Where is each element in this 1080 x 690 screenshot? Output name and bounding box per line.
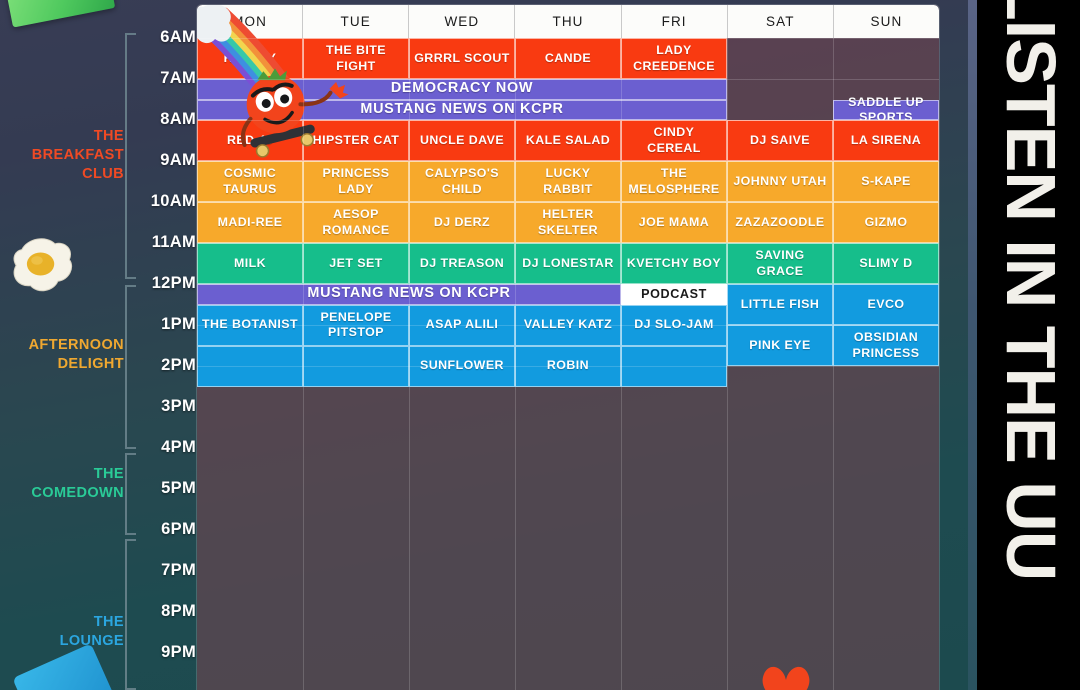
time-label-12pm: 12PM <box>134 274 196 293</box>
time-label-5pm: 5PM <box>134 479 196 498</box>
grid-vline <box>621 38 622 690</box>
slot-tue-12pm[interactable]: PRINCESS LADY <box>303 161 409 202</box>
slot-saddle-up-sports[interactable]: SADDLE UP SPORTS <box>833 100 939 121</box>
time-label-10am: 10AM <box>134 192 196 211</box>
grid-hline <box>197 161 939 162</box>
slot-mustang-news-am[interactable]: MUSTANG NEWS ON KCPR <box>197 100 727 121</box>
slot-sat-10am[interactable]: DJ SAIVE <box>727 120 833 161</box>
slot-democracy-now[interactable]: DEMOCRACY NOW <box>197 79 727 100</box>
section-rail-breakfast <box>125 33 127 279</box>
slot-wed-6am[interactable]: GRRRL SCOUT <box>409 38 515 79</box>
fried-egg-icon <box>6 228 78 300</box>
slot-tue-4pm[interactable]: JET SET <box>303 243 409 284</box>
time-label-1pm: 1PM <box>134 315 196 334</box>
slot-tue-2pm[interactable]: AESOP ROMANCE <box>303 202 409 243</box>
slot-fri-10am[interactable]: CINDY CEREAL <box>621 120 727 161</box>
slot-wed-10am[interactable]: UNCLE DAVE <box>409 120 515 161</box>
slot-mon-2pm[interactable]: MADI-REE <box>197 202 303 243</box>
grid-hline <box>197 325 939 326</box>
day-header-tue[interactable]: TUE <box>303 5 409 38</box>
grid-hline <box>197 366 939 367</box>
section-rail-comedown <box>125 453 127 535</box>
slot-tue-6am[interactable]: THE BITE FIGHT <box>303 38 409 79</box>
time-label-9pm: 9PM <box>134 643 196 662</box>
grid-vline <box>409 38 410 690</box>
slot-sat-12pm[interactable]: JOHNNY UTAH <box>727 161 833 202</box>
grid-hline <box>197 79 939 80</box>
grid-hline <box>197 120 939 121</box>
grid-vline <box>833 38 834 690</box>
slot-thu-4pm[interactable]: DJ LONESTAR <box>515 243 621 284</box>
section-label-afternoon-delight: AFTERNOONDELIGHT <box>29 336 124 374</box>
slot-podcast[interactable]: PODCAST <box>621 284 727 305</box>
slot-fri-2pm[interactable]: JOE MAMA <box>621 202 727 243</box>
slot-wed-2pm[interactable]: DJ DERZ <box>409 202 515 243</box>
time-label-8am: 8AM <box>134 110 196 129</box>
time-label-7pm: 7PM <box>134 561 196 580</box>
slot-wed-12pm[interactable]: CALYPSO'S CHILD <box>409 161 515 202</box>
section-rail-afternoon <box>125 285 127 449</box>
slot-sat-8pm[interactable]: PINK EYE <box>727 325 833 366</box>
listen-in-banner: LISTEN IN THE UU <box>977 0 1080 690</box>
section-label-the-lounge: THELOUNGE <box>60 613 124 651</box>
day-header-row: MONTUEWEDTHUFRISATSUN <box>197 5 939 38</box>
day-header-sun[interactable]: SUN <box>834 5 939 38</box>
slot-mon-10am[interactable]: RED 40 <box>197 120 303 161</box>
day-header-thu[interactable]: THU <box>515 5 621 38</box>
time-label-6am: 6AM <box>134 28 196 47</box>
schedule-grid: MONTUEWEDTHUFRISATSUN HAYBAYTHE BITE FIG… <box>197 5 939 690</box>
slot-mon-12pm[interactable]: COSMIC TAURUS <box>197 161 303 202</box>
grid-vline <box>727 38 728 690</box>
time-label-2pm: 2PM <box>134 356 196 375</box>
time-label-4pm: 4PM <box>134 438 196 457</box>
section-label-the-breakfast-club: THEBREAKFASTCLUB <box>32 127 124 184</box>
grid-vline <box>515 38 516 690</box>
time-label-9am: 9AM <box>134 151 196 170</box>
section-rail-lounge <box>125 539 127 690</box>
slot-wed-4pm[interactable]: DJ TREASON <box>409 243 515 284</box>
day-header-mon[interactable]: MON <box>197 5 303 38</box>
time-label-11am: 11AM <box>134 233 196 252</box>
time-label-7am: 7AM <box>134 69 196 88</box>
green-card-decoration <box>5 0 115 28</box>
slot-sun-6pm[interactable]: EVCO <box>833 284 939 325</box>
slot-sun-2pm[interactable]: GIZMO <box>833 202 939 243</box>
banner-text: LISTEN IN THE UU <box>991 0 1071 580</box>
time-label-6pm: 6PM <box>134 520 196 539</box>
grid-hline <box>197 284 939 285</box>
red-butterfly-decoration-icon <box>752 656 822 690</box>
slot-fri-4pm[interactable]: KVETCHY BOY <box>621 243 727 284</box>
slot-sun-12pm[interactable]: S-KAPE <box>833 161 939 202</box>
slot-thu-10am[interactable]: KALE SALAD <box>515 120 621 161</box>
time-axis: 6AM7AM8AM9AM10AM11AM12PM1PM2PM3PM4PM5PM6… <box>128 0 196 690</box>
slot-thu-12pm[interactable]: LUCKY RABBIT <box>515 161 621 202</box>
grid-vline <box>303 38 304 690</box>
time-label-3pm: 3PM <box>134 397 196 416</box>
time-label-8pm: 8PM <box>134 602 196 621</box>
slot-tue-10am[interactable]: HIPSTER CAT <box>303 120 409 161</box>
schedule-sidebar: THEBREAKFASTCLUB AFTERNOONDELIGHT THECOM… <box>0 0 196 690</box>
slot-sat-4pm[interactable]: SAVING GRACE <box>727 243 833 284</box>
slot-sun-4pm[interactable]: SLIMY D <box>833 243 939 284</box>
grid-hline <box>197 202 939 203</box>
day-header-fri[interactable]: FRI <box>622 5 728 38</box>
slot-sun-10am[interactable]: LA SIRENA <box>833 120 939 161</box>
slot-sun-8pm[interactable]: OBSIDIAN PRINCESS <box>833 325 939 366</box>
slot-mon-4pm[interactable]: MILK <box>197 243 303 284</box>
slot-fri-6am[interactable]: LADY CREEDENCE <box>621 38 727 79</box>
slot-fri-12pm[interactable]: THE MELOSPHERE <box>621 161 727 202</box>
day-header-wed[interactable]: WED <box>409 5 515 38</box>
grid-hline <box>197 38 939 39</box>
grid-hline <box>197 243 939 244</box>
day-header-sat[interactable]: SAT <box>728 5 834 38</box>
slot-sat-6pm[interactable]: LITTLE FISH <box>727 284 833 325</box>
section-label-the-comedown: THECOMEDOWN <box>31 465 124 503</box>
slot-mon-6am[interactable]: HAYBAY <box>197 38 303 79</box>
slot-sat-2pm[interactable]: ZAZAZOODLE <box>727 202 833 243</box>
slot-thu-6am[interactable]: CANDE <box>515 38 621 79</box>
slot-thu-2pm[interactable]: HELTER SKELTER <box>515 202 621 243</box>
